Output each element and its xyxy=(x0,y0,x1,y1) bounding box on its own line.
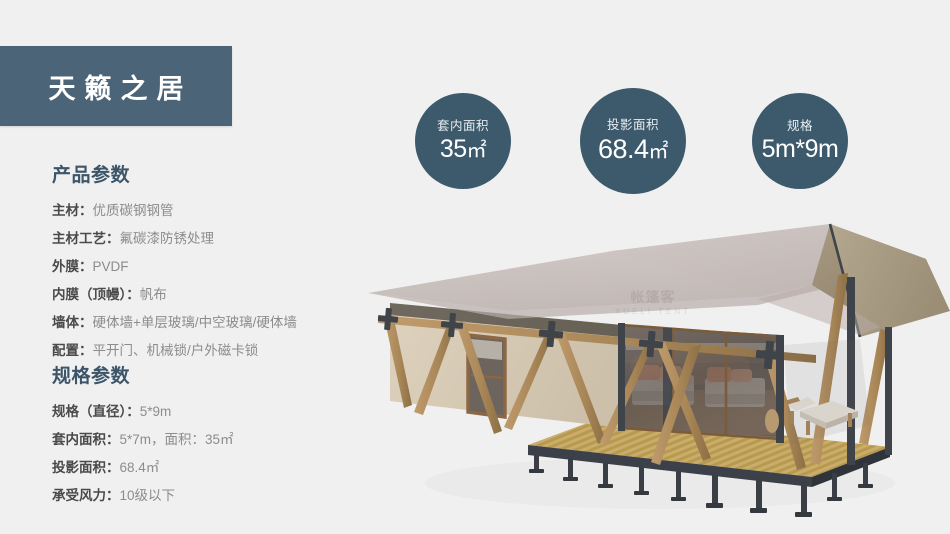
tent-house-illustration xyxy=(360,215,950,534)
spec-key: 套内面积： xyxy=(52,432,120,447)
page-title: 天籁之居 xyxy=(40,67,193,106)
spec-row: 配置：平开门、机械锁/户外磁卡锁 xyxy=(52,337,297,365)
badge-value: 5m*9m xyxy=(762,137,839,162)
spec-value: 帆布 xyxy=(140,287,167,302)
badge-number: 5m*9m xyxy=(762,135,839,163)
section-heading-product: 产品参数 xyxy=(52,165,297,188)
specification-parameters-section: 规格参数 规格（直径）：5*9m 套内面积：5*7m，面积：35㎡ 投影面积：6… xyxy=(52,366,234,510)
stat-badge-projected-area: 投影面积 68.4㎡ xyxy=(580,88,686,194)
badge-label: 投影面积 xyxy=(607,119,659,132)
spec-key: 配置： xyxy=(52,343,93,358)
spec-row: 主材工艺：氟碳漆防锈处理 xyxy=(52,225,297,253)
stat-badge-dimensions: 规格 5m*9m xyxy=(752,93,848,189)
spec-value: 68.4㎡ xyxy=(120,460,160,475)
spec-key: 承受风力： xyxy=(52,488,120,503)
spec-value: 优质碳钢钢管 xyxy=(93,203,174,218)
badge-number: 68.4 xyxy=(598,134,649,164)
spec-row: 套内面积：5*7m，面积：35㎡ xyxy=(52,426,234,454)
spec-key: 内膜（顶幔）： xyxy=(52,287,140,302)
tent-house-3d-render: 帐篷客 XUELI TENT xyxy=(360,215,950,534)
badge-number: 35 xyxy=(440,135,467,163)
spec-key: 外膜： xyxy=(52,259,93,274)
terrace-shadow xyxy=(784,339,870,445)
section-heading-spec: 规格参数 xyxy=(52,366,234,389)
spec-value: 10级以下 xyxy=(120,488,176,503)
badge-unit: ㎡ xyxy=(649,141,669,163)
spec-row: 主材：优质碳钢钢管 xyxy=(52,197,297,225)
spec-row: 墙体：硬体墙+单层玻璃/中空玻璃/硬体墙 xyxy=(52,309,297,337)
spec-value: 氟碳漆防锈处理 xyxy=(120,231,215,246)
decor-vase xyxy=(765,409,779,433)
product-spec-page: 天籁之居 产品参数 主材：优质碳钢钢管 主材工艺：氟碳漆防锈处理 外膜：PVDF… xyxy=(0,0,950,534)
spec-value: 硬体墙+单层玻璃/中空玻璃/硬体墙 xyxy=(93,315,297,330)
spec-value: 5*7m，面积：35㎡ xyxy=(120,432,234,447)
title-banner: 天籁之居 xyxy=(0,46,232,126)
spec-row: 内膜（顶幔）：帆布 xyxy=(52,281,297,309)
spec-key: 规格（直径）： xyxy=(52,404,140,419)
badge-label: 规格 xyxy=(787,120,813,133)
spec-row: 外膜：PVDF xyxy=(52,253,297,281)
spec-key: 墙体： xyxy=(52,315,93,330)
spec-key: 主材工艺： xyxy=(52,231,120,246)
spec-key: 主材： xyxy=(52,203,93,218)
badge-label: 套内面积 xyxy=(437,120,489,133)
spec-row: 规格（直径）：5*9m xyxy=(52,398,234,426)
product-parameters-section: 产品参数 主材：优质碳钢钢管 主材工艺：氟碳漆防锈处理 外膜：PVDF 内膜（顶… xyxy=(52,165,297,365)
spec-row: 投影面积：68.4㎡ xyxy=(52,454,234,482)
badge-value: 35㎡ xyxy=(440,137,486,162)
spec-value: 平开门、机械锁/户外磁卡锁 xyxy=(93,343,259,358)
spec-key: 投影面积： xyxy=(52,460,120,475)
spec-value: 5*9m xyxy=(140,404,172,419)
spec-row: 承受风力：10级以下 xyxy=(52,482,234,510)
stat-badge-interior-area: 套内面积 35㎡ xyxy=(415,93,511,189)
badge-value: 68.4㎡ xyxy=(598,136,668,163)
spec-value: PVDF xyxy=(93,259,129,274)
badge-unit: ㎡ xyxy=(467,140,487,162)
